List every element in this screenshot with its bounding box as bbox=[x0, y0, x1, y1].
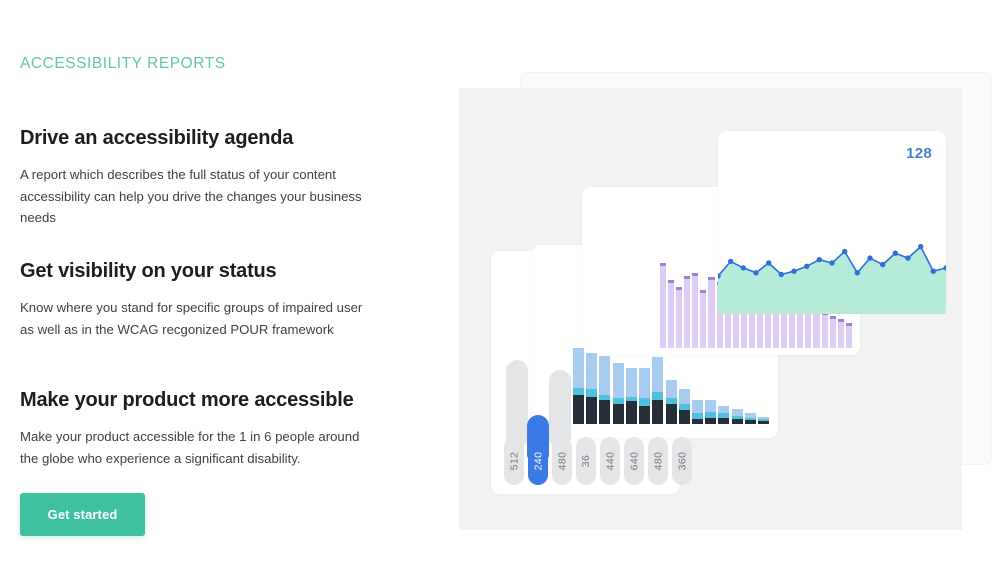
stacked-bar-segment-cyan bbox=[652, 392, 663, 400]
pill-label[interactable]: 640 bbox=[624, 437, 644, 485]
lavender-bar-cap bbox=[846, 323, 852, 326]
stacked-bar-segment-navy bbox=[573, 395, 584, 424]
lavender-bar bbox=[692, 273, 698, 348]
lavender-bar bbox=[676, 287, 682, 348]
stacked-bar-chart bbox=[573, 348, 769, 424]
lavender-bar bbox=[830, 316, 836, 348]
stacked-bar-segment-navy bbox=[692, 419, 703, 424]
lavender-bar bbox=[846, 323, 852, 349]
stacked-bar-segment-lightblue bbox=[613, 363, 624, 398]
stacked-bar bbox=[652, 357, 663, 424]
stacked-bar bbox=[692, 400, 703, 424]
stacked-bar-segment-navy bbox=[758, 421, 769, 424]
area-chart-point bbox=[905, 255, 910, 260]
area-chart-point bbox=[728, 259, 733, 264]
pill-label[interactable]: 440 bbox=[600, 437, 620, 485]
stacked-bar-segment-cyan bbox=[573, 388, 584, 396]
area-chart-point bbox=[804, 264, 809, 269]
stacked-bar bbox=[666, 380, 677, 424]
area-chart-point bbox=[855, 270, 860, 275]
area-chart-point bbox=[893, 251, 898, 256]
stacked-bar-segment-navy bbox=[652, 400, 663, 424]
lavender-bar bbox=[822, 312, 828, 348]
stacked-bar bbox=[705, 400, 716, 424]
stacked-bar-segment-lightblue bbox=[626, 368, 637, 397]
stacked-bar-segment-cyan bbox=[586, 389, 597, 397]
stacked-bar-segment-navy bbox=[639, 406, 650, 424]
stacked-bar-segment-lightblue bbox=[705, 400, 716, 412]
stacked-bar-segment-lightblue bbox=[573, 348, 584, 388]
stacked-bar-segment-lightblue bbox=[586, 353, 597, 389]
area-chart-point bbox=[918, 244, 923, 249]
stacked-bar-segment-lightblue bbox=[639, 368, 650, 398]
area-chart-point bbox=[817, 257, 822, 262]
stacked-bar-segment-navy bbox=[586, 397, 597, 424]
lavender-bar bbox=[684, 276, 690, 348]
stacked-bar-segment-navy bbox=[679, 410, 690, 424]
area-chart-svg bbox=[718, 210, 946, 314]
area-chart-point bbox=[880, 262, 885, 267]
pill-label-text: 360 bbox=[676, 452, 688, 471]
lavender-bar-cap bbox=[700, 290, 706, 293]
pill-label[interactable]: 240 bbox=[528, 437, 548, 485]
stacked-bar-segment-lightblue bbox=[732, 409, 743, 417]
stacked-bar-segment-navy bbox=[732, 419, 743, 424]
pill-label-text: 36 bbox=[580, 455, 592, 467]
area-chart-point bbox=[753, 270, 758, 275]
stacked-bar bbox=[599, 356, 610, 424]
area-chart-point bbox=[829, 260, 834, 265]
lavender-bar bbox=[700, 290, 706, 348]
pill-label-row: 51224048036440640480360 bbox=[504, 437, 692, 485]
stacked-bar bbox=[626, 368, 637, 424]
lavender-bar bbox=[660, 263, 666, 348]
stacked-bar-segment-navy bbox=[613, 404, 624, 424]
stacked-bar-segment-lightblue bbox=[679, 389, 690, 404]
metric-value: 128 bbox=[906, 145, 932, 162]
pill-label[interactable]: 512 bbox=[504, 437, 524, 485]
area-chart-point bbox=[741, 265, 746, 270]
area-chart-point bbox=[931, 269, 936, 274]
lavender-bar-cap bbox=[692, 273, 698, 276]
stacked-bar-segment-navy bbox=[745, 420, 756, 424]
pill-label-text: 640 bbox=[628, 452, 640, 471]
stacked-bar bbox=[679, 389, 690, 424]
pill-label-text: 512 bbox=[508, 452, 520, 471]
pill-label[interactable]: 480 bbox=[648, 437, 668, 485]
pill-label[interactable]: 480 bbox=[552, 437, 572, 485]
stacked-bar-segment-lightblue bbox=[692, 400, 703, 414]
stacked-bar-segment-lightblue bbox=[599, 356, 610, 396]
lavender-bar bbox=[668, 280, 674, 348]
pill-label[interactable]: 360 bbox=[672, 437, 692, 485]
stacked-bar-segment-navy bbox=[599, 400, 610, 424]
area-chart-point bbox=[842, 249, 847, 254]
stacked-bar bbox=[573, 348, 584, 424]
area-chart-point bbox=[766, 260, 771, 265]
pill-label-text: 480 bbox=[652, 452, 664, 471]
pill-label-text: 440 bbox=[604, 452, 616, 471]
lavender-bar-cap bbox=[676, 287, 682, 290]
stacked-bar bbox=[718, 406, 729, 424]
stacked-bar bbox=[732, 409, 743, 424]
stacked-bar-segment-navy bbox=[705, 418, 716, 424]
stacked-bar-segment-lightblue bbox=[666, 380, 677, 398]
stacked-bar bbox=[758, 417, 769, 424]
stacked-bar bbox=[586, 353, 597, 424]
grey-column-1 bbox=[506, 360, 528, 448]
area-chart-point bbox=[779, 272, 784, 277]
stacked-bar bbox=[745, 413, 756, 424]
pill-label-text: 240 bbox=[532, 452, 544, 471]
lavender-bar-cap bbox=[668, 280, 674, 283]
lavender-bar-cap bbox=[708, 277, 714, 280]
dashboard-illustration: 128 51224048036440640480360 bbox=[0, 0, 1000, 561]
lavender-bar-cap bbox=[838, 319, 844, 322]
lavender-bar bbox=[708, 277, 714, 348]
lavender-bar-cap bbox=[830, 316, 836, 319]
page-root: ACCESSIBILITY REPORTS Drive an accessibi… bbox=[0, 0, 1000, 561]
stacked-bar-segment-navy bbox=[666, 404, 677, 424]
lavender-bar bbox=[838, 319, 844, 348]
area-chart-plot bbox=[718, 210, 946, 314]
stacked-bar bbox=[613, 363, 624, 424]
pill-label[interactable]: 36 bbox=[576, 437, 596, 485]
stacked-bar-segment-lightblue bbox=[718, 406, 729, 414]
stacked-bar-segment-navy bbox=[718, 418, 729, 424]
stacked-bar-segment-cyan bbox=[639, 398, 650, 406]
pill-label-text: 480 bbox=[556, 452, 568, 471]
stacked-bar-segment-navy bbox=[626, 401, 637, 424]
lavender-bar-cap bbox=[660, 263, 666, 266]
stacked-bar-segment-lightblue bbox=[652, 357, 663, 392]
area-chart-fill bbox=[718, 247, 946, 314]
area-chart-point bbox=[867, 255, 872, 260]
stacked-bar bbox=[639, 368, 650, 424]
area-chart-point bbox=[791, 269, 796, 274]
lavender-bar-cap bbox=[684, 276, 690, 279]
